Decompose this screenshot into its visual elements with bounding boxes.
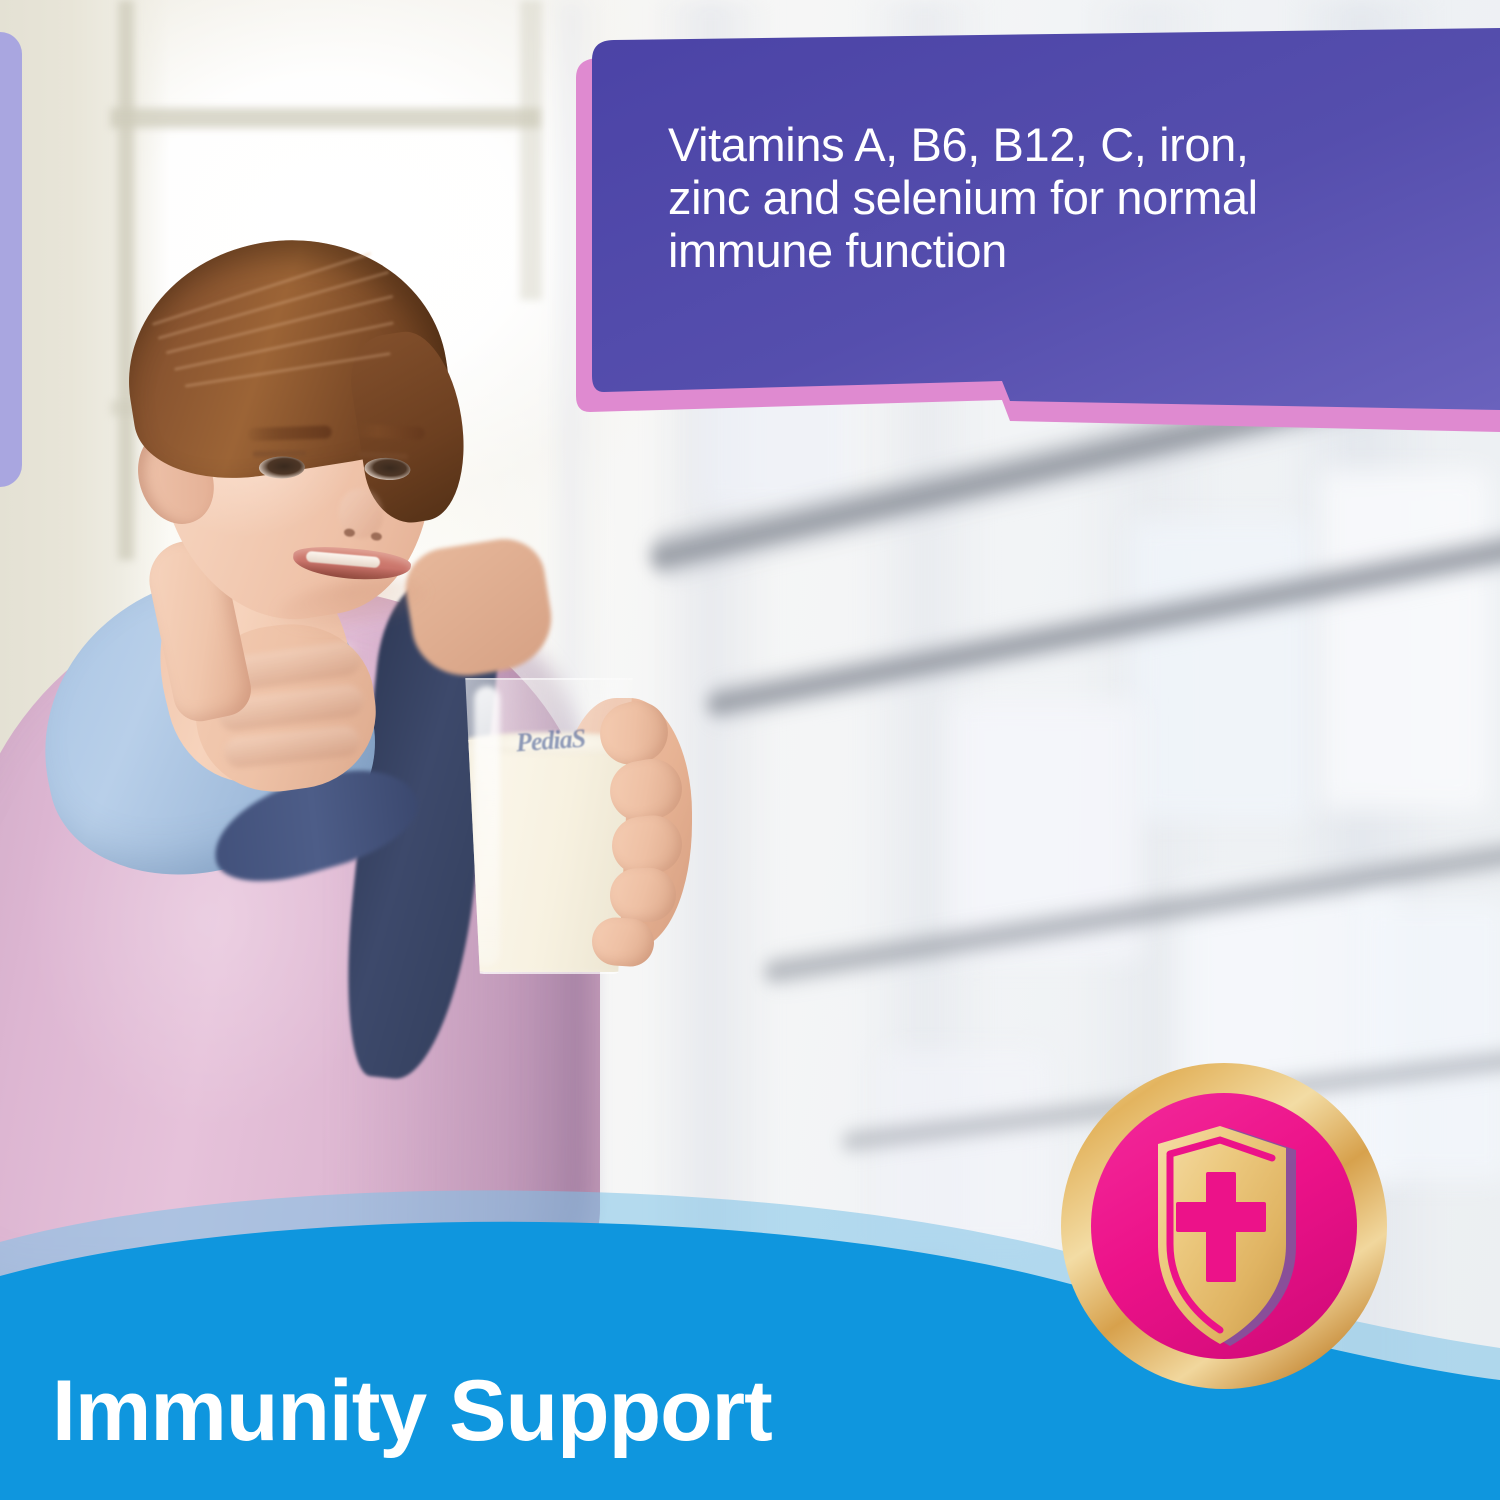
callout-line-2: zinc and selenium for normal xyxy=(668,171,1408,224)
immunity-badge xyxy=(1058,1060,1390,1392)
cross-horizontal xyxy=(1176,1202,1266,1232)
shelf-product-block xyxy=(1130,520,1310,820)
feature-callout: Vitamins A, B6, B12, C, iron, zinc and s… xyxy=(0,0,1500,460)
finger xyxy=(590,916,655,968)
finger xyxy=(609,867,677,923)
callout-line-3: immune function xyxy=(668,224,1408,277)
callout-line-1: Vitamins A, B6, B12, C, iron, xyxy=(668,118,1408,171)
promo-image: PediaS xyxy=(0,0,1500,1500)
banner-title: Immunity Support xyxy=(52,1368,772,1454)
fingers-group xyxy=(452,668,682,988)
callout-text-block: Vitamins A, B6, B12, C, iron, zinc and s… xyxy=(668,118,1408,277)
pediasure-glass: PediaS xyxy=(452,668,682,988)
shelf-product-block xyxy=(1320,470,1490,810)
